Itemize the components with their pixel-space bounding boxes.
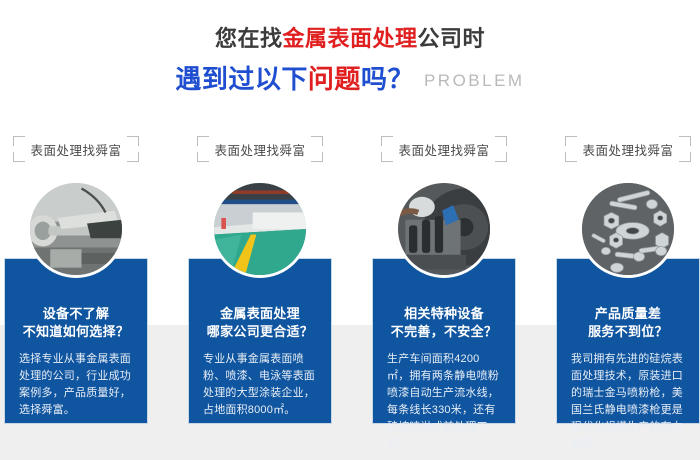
card-label-text: 表面处理找舜富 [30, 140, 121, 159]
card-panel: 产品质量差 服务不到位？ 我司拥有先进的硅烷表面处理技术，原装进口的瑞士金马喷粉… [556, 258, 700, 424]
card-title: 设备不了解 不知道如何选择？ [15, 305, 137, 341]
card-body: 专业从事金属表面喷粉、喷漆、电泳等表面处理的大型涂装企业，占地面积8000㎡。 [199, 351, 321, 419]
lathe-machining-photo [27, 180, 125, 278]
bracket-corner-top-right-icon [495, 136, 507, 146]
card-panel: 金属表面处理 哪家公司更合适？ 专业从事金属表面喷粉、喷漆、电泳等表面处理的大型… [188, 258, 332, 424]
headline-primary-prefix: 您在找 [215, 26, 283, 51]
bracket-corner-bottom-left-icon [197, 152, 209, 162]
headline-secondary-highlight: 问题 [308, 64, 361, 94]
card-body: 选择专业从事金属表面处理的公司，行业成功案例多，产品质量好，选择舜富。 [15, 351, 137, 419]
headline-primary-suffix: 公司时 [418, 26, 486, 51]
banner-header: 您在找金属表面处理公司时 遇到过以下问题吗？PROBLEM [0, 0, 700, 98]
card-bracket-label: 表面处理找舜富 [197, 134, 323, 164]
card-item[interactable]: 表面处理找舜富 金属表面处理 [188, 134, 332, 424]
card-item[interactable]: 表面处理找舜富 [4, 134, 148, 424]
card-title: 相关特种设备 不完善，不安全？ [383, 305, 505, 341]
bracket-corner-top-right-icon [127, 136, 139, 146]
card-title: 金属表面处理 哪家公司更合适？ [199, 305, 321, 341]
card-title: 产品质量差 服务不到位？ [567, 305, 689, 341]
card-body: 我司拥有先进的硅烷表面处理技术，原装进口的瑞士金马喷粉枪，美国兰氏静电喷漆枪更是… [567, 351, 689, 453]
bracket-corner-bottom-left-icon [381, 152, 393, 162]
bracket-corner-top-left-icon [197, 136, 209, 146]
headline-primary-highlight: 金属表面处理 [282, 26, 417, 51]
card-body: 生产车间面积4200㎡，拥有两条静电喷粉喷漆自动生产流水线，每条线长330米，还… [383, 351, 505, 453]
metal-tooling-photo [395, 180, 493, 278]
card-panel: 设备不了解 不知道如何选择？ 选择专业从事金属表面处理的公司，行业成功案例多，产… [4, 258, 148, 424]
headline-primary: 您在找金属表面处理公司时 [0, 24, 700, 54]
bracket-corner-bottom-left-icon [565, 152, 577, 162]
card-label-text: 表面处理找舜富 [214, 140, 305, 159]
card-bracket-label: 表面处理找舜富 [381, 134, 507, 164]
headline-secondary-suffix: 吗？ [361, 64, 414, 94]
bolts-fasteners-photo [579, 180, 677, 278]
bracket-corner-bottom-right-icon [311, 152, 323, 162]
bracket-corner-top-left-icon [13, 136, 25, 146]
headline-secondary: 遇到过以下问题吗？PROBLEM [0, 62, 700, 98]
bracket-corner-top-right-icon [311, 136, 323, 146]
bracket-corner-bottom-right-icon [127, 152, 139, 162]
card-item[interactable]: 表面处理找舜富 [556, 134, 700, 424]
headline-english-label: PROBLEM [424, 71, 525, 90]
bracket-corner-bottom-right-icon [495, 152, 507, 162]
card-list: 表面处理找舜富 [0, 134, 700, 434]
card-label-text: 表面处理找舜富 [398, 140, 489, 159]
card-item[interactable]: 表面处理找舜富 [372, 134, 516, 424]
bracket-corner-top-left-icon [565, 136, 577, 146]
factory-corridor-photo [211, 180, 309, 278]
card-panel: 相关特种设备 不完善，不安全？ 生产车间面积4200㎡，拥有两条静电喷粉喷漆自动… [372, 258, 516, 424]
promo-banner: 您在找金属表面处理公司时 遇到过以下问题吗？PROBLEM 表面处理找舜富 [0, 0, 700, 460]
bracket-corner-bottom-right-icon [679, 152, 691, 162]
bracket-corner-top-left-icon [381, 136, 393, 146]
card-label-text: 表面处理找舜富 [582, 140, 673, 159]
headline-secondary-prefix: 遇到过以下 [175, 64, 308, 94]
card-bracket-label: 表面处理找舜富 [13, 134, 139, 164]
bracket-corner-bottom-left-icon [13, 152, 25, 162]
card-bracket-label: 表面处理找舜富 [565, 134, 691, 164]
bracket-corner-top-right-icon [679, 136, 691, 146]
